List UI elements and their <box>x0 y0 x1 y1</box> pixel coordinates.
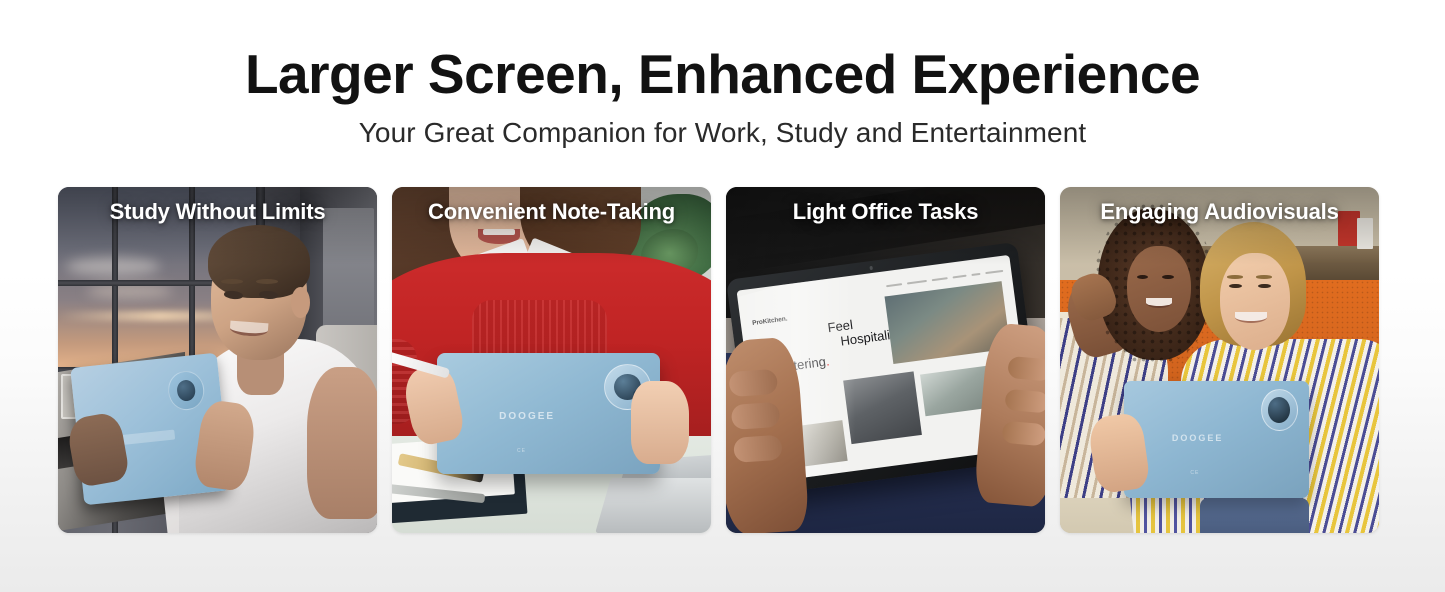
finger <box>733 435 783 463</box>
woman-smile <box>1146 298 1172 308</box>
nav-item <box>906 279 926 284</box>
boy-arm <box>307 367 377 519</box>
card-image-note-taking: DOOGEE CE <box>392 187 711 533</box>
card-label-note-taking: Convenient Note-Taking <box>392 199 711 225</box>
woman-hand-right <box>631 381 688 464</box>
card-label-office-tasks: Light Office Tasks <box>726 199 1045 225</box>
tablet-brand-logo <box>116 429 175 445</box>
nav-item <box>931 276 948 280</box>
page-subtitle: Your Great Companion for Work, Study and… <box>0 117 1445 149</box>
man-jeans <box>1200 498 1308 533</box>
card-label-study: Study Without Limits <box>58 199 377 225</box>
boy-hair <box>208 225 310 298</box>
laptop-base <box>595 478 711 533</box>
woman-face <box>1127 246 1191 333</box>
tablet-brand-logo: DOOGEE <box>499 411 555 422</box>
nav-item <box>886 283 901 287</box>
man-face <box>1220 253 1290 350</box>
tablet-camera-module <box>167 370 206 412</box>
card-image-audiovisuals: DOOGEE CE <box>1060 187 1379 533</box>
man-eyebrow <box>1256 275 1272 278</box>
man-eyebrow <box>1227 275 1243 278</box>
finger <box>731 402 781 430</box>
card-image-study <box>58 187 377 533</box>
feature-card-row: Study Without Limits <box>58 187 1386 533</box>
heading-line-1: Feel <box>826 316 853 334</box>
card-label-audiovisuals: Engaging Audiovisuals <box>1060 199 1379 225</box>
finger <box>1007 357 1045 382</box>
nav-item <box>953 274 967 278</box>
finger <box>1005 389 1045 414</box>
page-title: Larger Screen, Enhanced Experience <box>0 45 1445 104</box>
feature-card-engaging-audiovisuals[interactable]: DOOGEE CE Engaging Audiovisuals <box>1060 187 1379 533</box>
boy-eyebrow <box>256 279 278 284</box>
nav-item <box>985 269 1003 273</box>
site-photo-tile <box>843 371 922 444</box>
tablet-camera-module <box>1261 389 1298 431</box>
tablet-device: DOOGEE CE <box>437 353 660 474</box>
tablet-brand-logo: DOOGEE <box>1172 433 1224 443</box>
tablet-certification-mark: CE <box>1190 470 1199 476</box>
boy-eyebrow <box>221 279 243 284</box>
card-image-office-tasks: ProKitchen. Feel Catering. Feel Hospital… <box>726 187 1045 533</box>
banner-header: Larger Screen, Enhanced Experience Your … <box>0 0 1445 149</box>
feature-card-light-office-tasks[interactable]: ProKitchen. Feel Catering. Feel Hospital… <box>726 187 1045 533</box>
finger <box>728 369 778 397</box>
accent-dot: . <box>825 353 831 368</box>
tablet-certification-mark: CE <box>517 448 526 454</box>
finger <box>1002 421 1045 446</box>
tablet-device: DOOGEE CE <box>1124 381 1309 499</box>
feature-card-convenient-note-taking[interactable]: DOOGEE CE Convenient Note-Taking <box>392 187 711 533</box>
nav-item <box>971 272 980 275</box>
feature-card-study-without-limits[interactable]: Study Without Limits <box>58 187 377 533</box>
woman-teeth <box>483 229 515 236</box>
tablet-front-camera-icon <box>869 265 873 269</box>
site-logo: ProKitchen. <box>752 315 788 327</box>
